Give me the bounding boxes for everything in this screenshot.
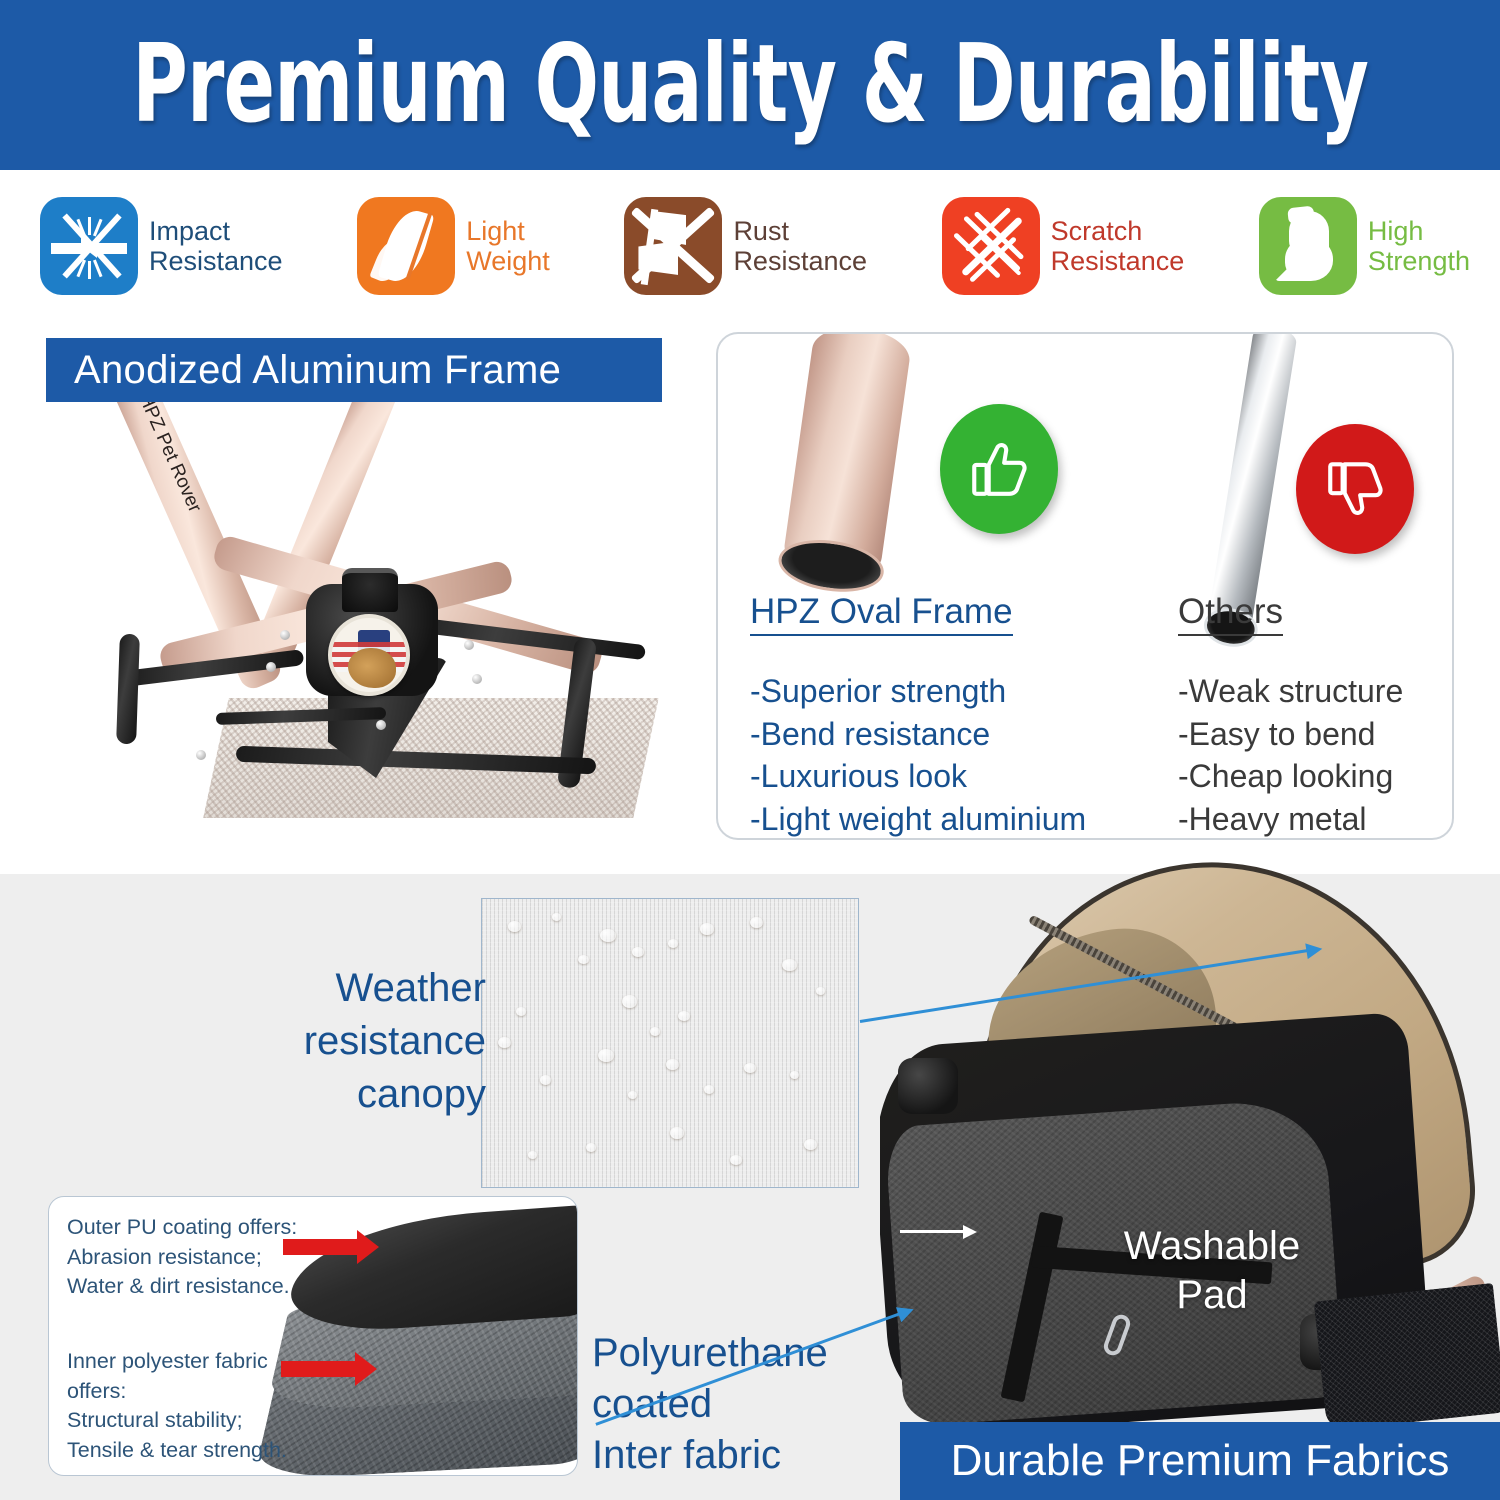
feature-icon-row: Impact Resistance Light Weight Rust Resi…	[40, 186, 1470, 306]
pu-coating-diagram-card: Outer PU coating offers: Abrasion resist…	[48, 1196, 578, 1476]
list-item: -Light weight aluminium	[750, 798, 1122, 840]
anodized-aluminum-frame-banner: Anodized Aluminum Frame	[46, 338, 662, 402]
thumbs-up-icon	[940, 404, 1058, 534]
list-item: -Heavy metal	[1178, 798, 1440, 840]
feature-light-weight: Light Weight	[357, 197, 550, 295]
list-item: -Cheap looking	[1178, 755, 1440, 798]
feature-label: Impact Resistance	[149, 216, 283, 276]
list-item: -Easy to bend	[1178, 713, 1440, 756]
feature-high-strength: High Strength	[1259, 197, 1470, 295]
list-item: -Superior strength	[750, 670, 1122, 713]
feather-icon	[357, 197, 455, 295]
frame-joint-left	[898, 1058, 958, 1114]
list-item: -Luxurious look	[750, 755, 1122, 798]
frame-brand-text: HPZ Pet Rover	[133, 402, 205, 516]
comparison-heading-others: Others	[1178, 592, 1283, 636]
frame-socket	[342, 568, 398, 612]
list-item: -Bend resistance	[750, 713, 1122, 756]
inner-polyester-text: Inner polyester fabric offers: Structura…	[67, 1347, 287, 1466]
bassinet-pointer-arrow	[900, 1230, 970, 1233]
impact-arrows-icon	[40, 197, 138, 295]
washable-pad-label: Washable Pad	[1092, 1222, 1332, 1320]
stroller-mesh-basket	[1314, 1283, 1500, 1422]
red-arrow-inner-icon	[281, 1361, 357, 1377]
feature-impact-resistance: Impact Resistance	[40, 197, 283, 295]
canopy-fabric-swatch-photo	[481, 898, 859, 1188]
hpz-oval-tube-photo	[781, 332, 913, 584]
outer-pu-coating-text: Outer PU coating offers: Abrasion resist…	[67, 1213, 297, 1302]
hpz-emblem-badge	[328, 614, 410, 696]
anodized-banner-label: Anodized Aluminum Frame	[74, 348, 561, 393]
thumbs-down-icon	[1296, 424, 1414, 554]
page-title: Premium Quality & Durability	[132, 31, 1368, 139]
feature-label: Rust Resistance	[733, 216, 867, 276]
infographic-page: Premium Quality & Durability Impact Resi…	[0, 0, 1500, 1500]
fabrics-banner-label: Durable Premium Fabrics	[951, 1436, 1450, 1486]
pet-stroller-photo	[880, 862, 1500, 1422]
comparison-columns: HPZ Oval Frame -Superior strength -Bend …	[750, 592, 1440, 840]
comparison-heading-hpz: HPZ Oval Frame	[750, 592, 1013, 636]
feature-label: Scratch Resistance	[1051, 216, 1185, 276]
crossed-flag-icon	[624, 197, 722, 295]
feature-scratch-resistance: Scratch Resistance	[942, 197, 1185, 295]
list-item: -Weak structure	[1178, 670, 1440, 713]
crossed-scratch-icon	[942, 197, 1040, 295]
header-banner: Premium Quality & Durability	[0, 0, 1500, 170]
feature-label: High Strength	[1368, 216, 1470, 276]
red-arrow-outer-icon	[283, 1239, 359, 1255]
durable-premium-fabrics-banner: Durable Premium Fabrics	[900, 1422, 1500, 1500]
feature-rust-resistance: Rust Resistance	[624, 197, 867, 295]
frame-comparison-card: HPZ Oval Frame -Superior strength -Bend …	[716, 332, 1454, 840]
weather-resistance-canopy-label: Weather resistance canopy	[236, 962, 486, 1120]
comparison-list-others: -Weak structure -Easy to bend -Cheap loo…	[1178, 670, 1440, 840]
comparison-column-others: Others -Weak structure -Easy to bend -Ch…	[1178, 592, 1440, 840]
comparison-list-hpz: -Superior strength -Bend resistance -Lux…	[750, 670, 1122, 840]
polyurethane-coated-label: Polyurethane coated Inter fabric	[592, 1328, 922, 1482]
comparison-column-hpz: HPZ Oval Frame -Superior strength -Bend …	[750, 592, 1122, 840]
aluminum-frame-photo: HPZ Pet Rover	[96, 402, 688, 842]
feature-label: Light Weight	[466, 216, 550, 276]
bicep-icon	[1259, 197, 1357, 295]
